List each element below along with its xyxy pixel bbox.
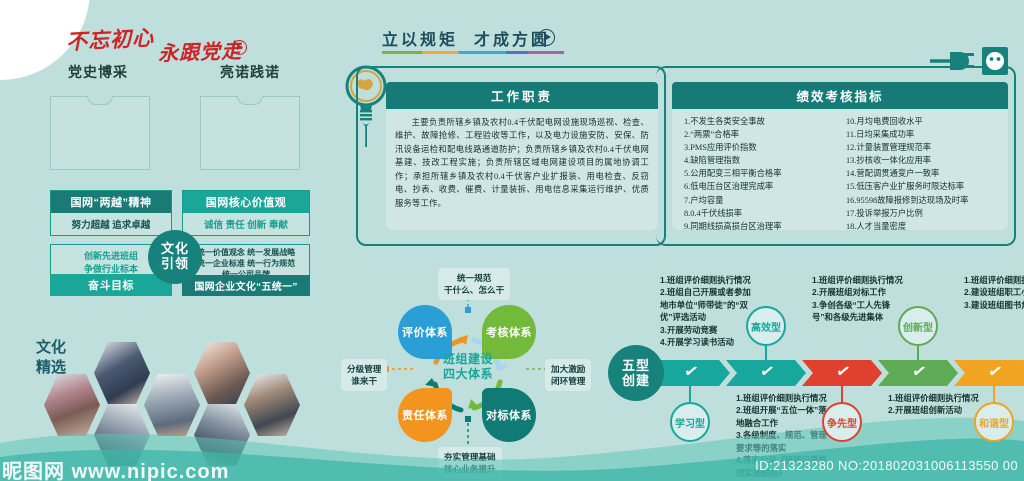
- five-types-node-高效型[interactable]: 高效型: [746, 306, 786, 346]
- five-types-node-label: 争先型: [827, 415, 857, 430]
- five-types-points-学习型: 1.班组评价细则执行情况 2.班组自己开展或者参加地市单位“师带徒”的“双优”评…: [660, 274, 756, 349]
- center-header: 立以规矩才成方圆: [382, 26, 550, 50]
- five-types-node-label: 学习型: [675, 415, 705, 430]
- culture-box-five-unify-header: 国网企业文化“五统一”: [182, 275, 310, 296]
- culture-box-values-header: 国网核心价值观: [183, 191, 309, 213]
- kpi-list-item: 10.月均电费回收水平: [846, 115, 998, 128]
- watermark-site-cn: 昵图网: [2, 461, 65, 481]
- header-rainbow-rule: [382, 51, 564, 54]
- diagram-center-label: 班组建设 四大体系: [432, 352, 504, 382]
- culture-box-goal-header: 奋斗目标: [50, 274, 172, 296]
- kpi-list-item: 1.不发生各类安全事故: [684, 115, 836, 128]
- slot-notch: [237, 96, 263, 105]
- kpi-list-item: 4.缺陷管理指数: [684, 154, 836, 167]
- culture-box-values-body: 诚信 责任 创新 奉献: [183, 213, 309, 239]
- kpi-list-item: 3.PMS应用评价指数: [684, 141, 836, 154]
- five-types-node-学习型[interactable]: 学习型: [670, 402, 710, 442]
- kpi-panel: 绩效考核指标 1.不发生各类安全事故2.“两票”合格率3.PMS应用评价指数4.…: [672, 82, 1008, 230]
- culture-badge-line1: 文化: [161, 242, 189, 257]
- photo-slot-right: [200, 96, 300, 170]
- kpi-list-left: 1.不发生各类安全事故2.“两票”合格率3.PMS应用评价指数4.缺陷管理指数5…: [684, 115, 836, 233]
- center-header-left: 立以规矩: [382, 32, 458, 49]
- culture-box-spirit-body: 努力超越 追求卓越: [51, 213, 171, 239]
- petal-evaluation-system: 评价体系: [398, 305, 452, 359]
- kpi-list-item: 15.低压客户业扩服务时限达标率: [846, 180, 998, 193]
- play-arrow-icon: [232, 40, 247, 55]
- culture-box-values: 国网核心价值观 诚信 责任 创新 奉献: [182, 190, 310, 236]
- power-plug-icon: [930, 44, 1008, 83]
- kpi-list-item: 5.公用配变三相平衡合格率: [684, 167, 836, 180]
- five-types-stem: [765, 344, 767, 368]
- poster-canvas: 不忘初心 永跟党走 党史博采 亮诺践诺 国网“两越”精神 努力超越 追求卓越 国…: [0, 0, 1024, 481]
- culture-photos-title-line1: 文化: [36, 339, 66, 356]
- five-types-node-label: 和谐型: [979, 415, 1009, 430]
- watermark-left: 昵图网 www.nipic.com: [2, 455, 229, 481]
- culture-badge-line2: 引领: [161, 257, 189, 272]
- five-types-stem: [917, 344, 919, 368]
- five-types-badge-line2: 创建: [622, 373, 650, 388]
- kpi-list-item: 9.同期线损高损台区治理率: [684, 220, 836, 233]
- five-types-node-创新型[interactable]: 创新型: [898, 306, 938, 346]
- kpi-list-item: 2.“两票”合格率: [684, 128, 836, 141]
- five-types-badge: 五型 创建: [608, 345, 664, 401]
- kpi-title: 绩效考核指标: [672, 82, 1008, 109]
- kpi-list-item: 6.低电压台区治理完成率: [684, 180, 836, 193]
- five-types-points-争先型: 1.班组评价细则执行情况 2.开展班组对标工作 3.争创各级“工人先锋号”和各级…: [812, 274, 908, 324]
- petal-evaluation-label: 评价体系: [398, 305, 452, 359]
- five-types-node-和谐型[interactable]: 和谐型: [974, 402, 1014, 442]
- kpi-list-item: 11.日均采集成功率: [846, 128, 998, 141]
- petal-assessment-label: 考核体系: [482, 305, 536, 359]
- kpi-list-item: 12.计量装置管理规范率: [846, 141, 998, 154]
- sub-title-pledge: 亮诺践诺: [220, 62, 280, 82]
- duty-body: 主要负责所辖乡镇及农村0.4千伏配电网设施现场巡视、检查、维护、故障抢修、工程验…: [386, 109, 658, 210]
- calligraphy-line-1: 不忘初心: [65, 22, 154, 57]
- kpi-list-item: 18.人才当量密度: [846, 220, 998, 233]
- watermark-site-url: www.nipic.com: [72, 461, 230, 481]
- slot-notch: [87, 96, 113, 105]
- five-types-node-label: 高效型: [751, 319, 781, 334]
- kpi-list-item: 7.户均容量: [684, 194, 836, 207]
- petal-assessment-system: 考核体系: [482, 305, 536, 359]
- five-types-node-争先型[interactable]: 争先型: [822, 402, 862, 442]
- diagram-center-line2: 四大体系: [432, 367, 504, 382]
- five-types-points-和谐型: 1.班组评价细则执行情况 2.建设班组职工小家 3.建设班组图书角: [964, 274, 1024, 311]
- five-types-badge-line1: 五型: [622, 358, 650, 373]
- watermark-id: ID:21323280 NO:201802031006113550 00: [755, 458, 1018, 473]
- diagram-center-line1: 班组建设: [432, 352, 504, 367]
- culture-box-spirit-header: 国网“两越”精神: [51, 191, 171, 213]
- play-arrow-icon: [538, 29, 555, 46]
- callout-top: 统一规范 干什么、怎么干: [438, 268, 510, 300]
- sub-title-party-history: 党史博采: [68, 62, 128, 82]
- photo-slot-left: [50, 96, 150, 170]
- kpi-list-item: 16.95598故障报修到达现场及时率: [846, 194, 998, 207]
- duty-panel: 工作职责 主要负责所辖乡镇及农村0.4千伏配电网设施现场巡视、检查、维护、故障抢…: [386, 82, 658, 230]
- kpi-list-item: 13.抄核收一体化应用率: [846, 154, 998, 167]
- kpi-list-item: 8.0.4千伏线损率: [684, 207, 836, 220]
- kpi-list-item: 14.营配调贯通变户一致率: [846, 167, 998, 180]
- culture-leadership-badge: 文化 引领: [148, 230, 202, 284]
- kpi-list-right: 10.月均电费回收水平11.日均采集成功率12.计量装置管理规范率13.抄核收一…: [846, 115, 998, 233]
- culture-box-spirit: 国网“两越”精神 努力超越 追求卓越: [50, 190, 172, 236]
- kpi-list-item: 17.投诉举报万户比例: [846, 207, 998, 220]
- five-types-node-label: 创新型: [903, 319, 933, 334]
- duty-title: 工作职责: [386, 82, 658, 109]
